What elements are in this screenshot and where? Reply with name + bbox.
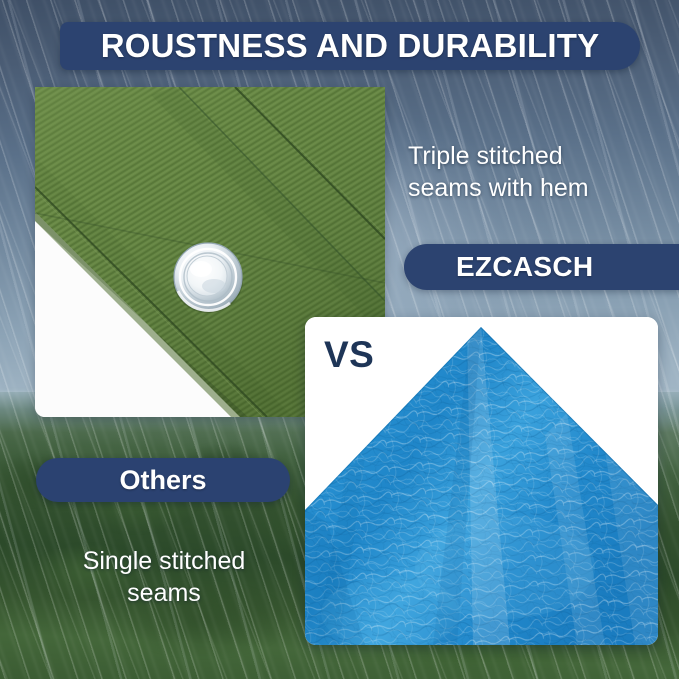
- others-feature-line-2: seams: [24, 577, 304, 609]
- ezcasch-feature-line-1: Triple stitched: [408, 140, 658, 172]
- page-title: ROUSTNESS AND DURABILITY: [101, 27, 600, 65]
- vs-label: VS: [324, 334, 374, 376]
- others-feature-line-1: Single stitched: [24, 545, 304, 577]
- ezcasch-brand-badge: EZCASCH: [404, 244, 679, 290]
- ezcasch-feature-text: Triple stitched seams with hem: [408, 140, 658, 204]
- others-feature-text: Single stitched seams: [24, 545, 304, 609]
- others-badge-label: Others: [119, 465, 206, 496]
- page-title-banner: ROUSTNESS AND DURABILITY: [60, 22, 640, 70]
- others-badge: Others: [36, 458, 290, 502]
- ezcasch-brand-label: EZCASCH: [456, 251, 593, 283]
- others-product-card: VS: [305, 317, 658, 645]
- ezcasch-feature-line-2: seams with hem: [408, 172, 658, 204]
- product-comparison-image: ROUSTNESS AND DURABILITY: [0, 0, 679, 679]
